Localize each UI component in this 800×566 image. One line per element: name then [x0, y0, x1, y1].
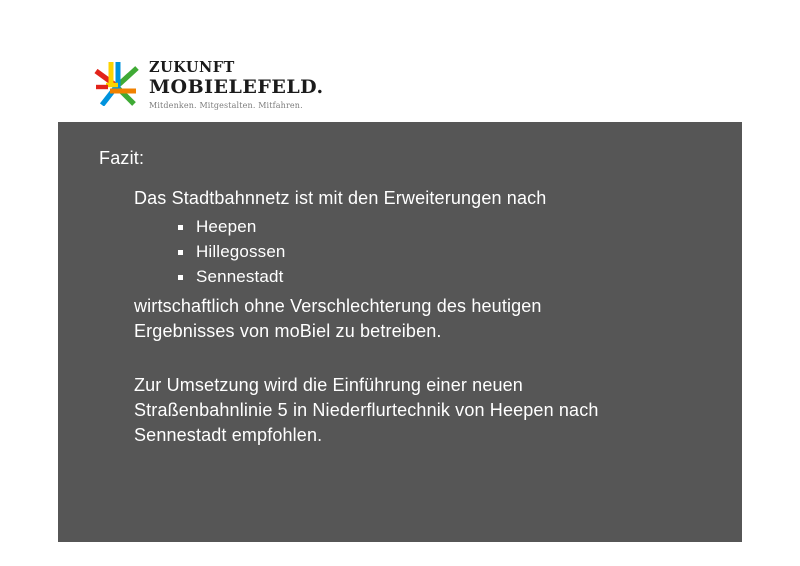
- extension-locations-list: Heepen Hillegossen Sennestadt: [134, 214, 734, 289]
- list-item: Heepen: [178, 214, 734, 239]
- slide-body: Das Stadtbahnnetz ist mit den Erweiterun…: [134, 186, 734, 448]
- list-item-label: Hillegossen: [196, 242, 286, 261]
- bullet-square-icon: [178, 250, 183, 255]
- list-item-label: Sennestadt: [196, 267, 284, 286]
- paragraph-recommendation-line-3: Sennestadt empfohlen.: [134, 423, 734, 448]
- zukunft-mobielefeld-star-mark-icon: [94, 60, 140, 106]
- paragraph-recommendation-line-1: Zur Umsetzung wird die Einführung einer …: [134, 373, 734, 398]
- paragraph-spacer: [134, 344, 734, 373]
- list-item: Hillegossen: [178, 239, 734, 264]
- paragraph-recommendation-line-2: Straßenbahnlinie 5 in Niederflurtechnik …: [134, 398, 734, 423]
- paragraph-intro: Das Stadtbahnnetz ist mit den Erweiterun…: [134, 186, 734, 211]
- wordmark-line-2: MOBIELEFELD.: [149, 78, 324, 97]
- brand-tagline: Mitdenken. Mitgestalten. Mitfahren.: [149, 101, 324, 110]
- list-item-label: Heepen: [196, 217, 256, 236]
- wordmark-line-1: ZUKUNFT: [149, 61, 324, 76]
- bullet-square-icon: [178, 275, 183, 280]
- brand-wordmark: ZUKUNFT MOBIELEFELD. Mitdenken. Mitgesta…: [149, 60, 324, 110]
- slide-content-panel: Fazit: Das Stadtbahnnetz ist mit den Erw…: [58, 122, 742, 542]
- slide-heading: Fazit:: [99, 148, 144, 169]
- bullet-square-icon: [178, 225, 183, 230]
- list-item: Sennestadt: [178, 264, 734, 289]
- brand-logo: ZUKUNFT MOBIELEFELD. Mitdenken. Mitgesta…: [94, 60, 324, 110]
- paragraph-conclusion-line-1: wirtschaftlich ohne Verschlechterung des…: [134, 294, 734, 319]
- paragraph-conclusion-line-2: Ergebnisses von moBiel zu betreiben.: [134, 319, 734, 344]
